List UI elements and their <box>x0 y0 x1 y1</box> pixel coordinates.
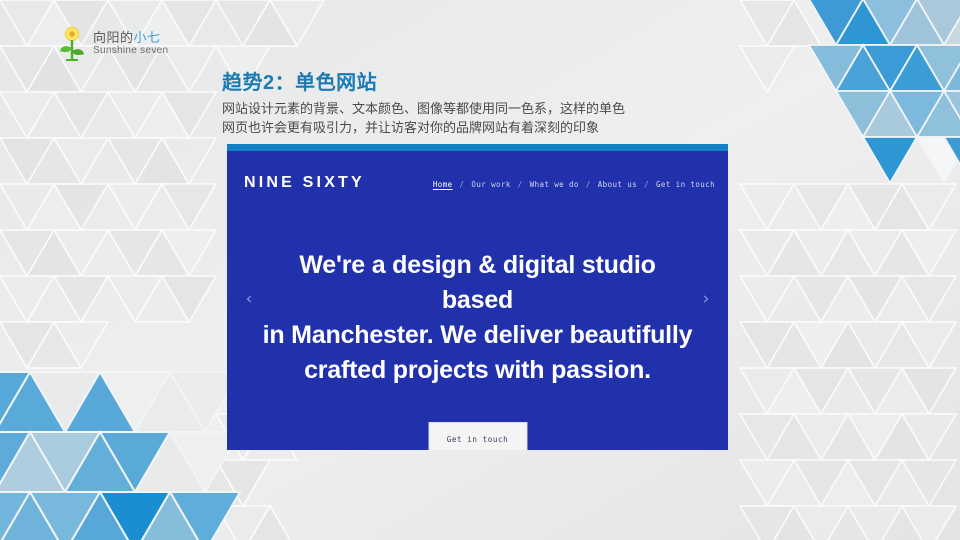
nav-separator: / <box>460 180 465 189</box>
nav-item-our-work[interactable]: Our work <box>471 180 510 189</box>
nav-item-about-us[interactable]: About us <box>598 180 637 189</box>
screenshot-brand: NINE SIXTY <box>244 174 365 192</box>
brand-name-cn-accent: 小七 <box>134 30 161 45</box>
carousel-prev-chevron-icon[interactable]: ‹ <box>239 289 259 309</box>
hero-headline-line-2: in Manchester. We deliver beautifully <box>261 318 694 353</box>
hero-headline-line-1: We're a design & digital studio based <box>261 248 694 318</box>
carousel-next-chevron-icon[interactable]: › <box>696 289 716 309</box>
body-text: 网站设计元素的背景、文本颜色、图像等都使用同一色系，这样的单色 网页也许会更有吸… <box>222 99 742 137</box>
bottom-left-blue-cluster <box>0 372 240 540</box>
body-text-line-2: 网页也许会更有吸引力，并让访客对你的品牌网站有着深刻的印象 <box>222 118 742 137</box>
hero-headline-line-3: crafted projects with passion. <box>261 353 694 388</box>
brand-logo-text: 向阳的小七 Sunshine seven <box>93 31 168 56</box>
sunflower-icon <box>57 24 87 62</box>
hero-headline: We're a design & digital studio based in… <box>227 248 728 388</box>
slide-canvas: 向阳的小七 Sunshine seven 趋势2：单色网站 网站设计元素的背景、… <box>0 0 960 540</box>
screenshot-nav-menu: Home / Our work / What we do / About us … <box>433 180 715 189</box>
top-right-blue-cluster <box>809 0 960 183</box>
nav-separator: / <box>518 180 523 189</box>
nav-item-get-in-touch[interactable]: Get in touch <box>656 180 715 189</box>
brand-name-cn: 向阳的小七 <box>93 31 168 44</box>
website-screenshot: NINE SIXTY Home / Our work / What we do … <box>227 144 728 450</box>
nav-separator: / <box>586 180 591 189</box>
nav-separator: / <box>644 180 649 189</box>
screenshot-top-accent-bar <box>227 144 728 151</box>
get-in-touch-button[interactable]: Get in touch <box>428 422 527 450</box>
page-title: 趋势2：单色网站 <box>222 66 377 95</box>
nav-item-what-we-do[interactable]: What we do <box>530 180 579 189</box>
brand-name-en: Sunshine seven <box>93 46 168 56</box>
brand-logo: 向阳的小七 Sunshine seven <box>57 24 168 62</box>
screenshot-navbar: NINE SIXTY Home / Our work / What we do … <box>227 151 728 206</box>
nav-item-home[interactable]: Home <box>433 180 453 189</box>
body-text-line-1: 网站设计元素的背景、文本颜色、图像等都使用同一色系，这样的单色 <box>222 99 742 118</box>
brand-name-cn-dark: 向阳的 <box>93 30 134 45</box>
